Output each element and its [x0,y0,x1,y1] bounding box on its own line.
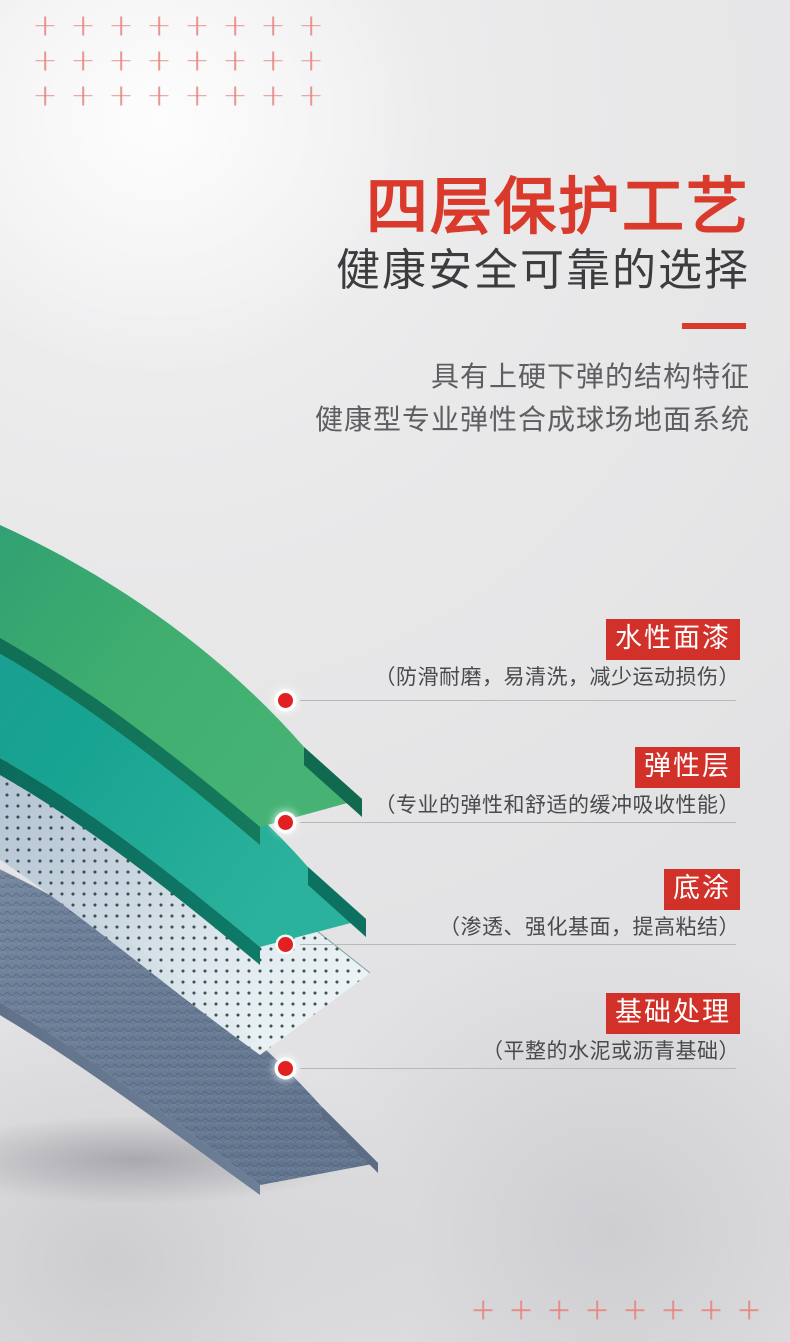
layer-badge-1: 水性面漆 [606,619,740,660]
description-line-2: 健康型专业弹性合成球场地面系统 [110,399,750,442]
callout-layer-3: 底涂 （渗透、强化基面，提高粘结） [320,869,740,938]
plus-cross-icon [502,1294,540,1326]
plus-cross-icon [254,78,292,113]
plus-cross-icon [254,43,292,78]
plus-cross-icon [140,43,178,78]
plus-cross-icon [292,78,330,113]
callout-layer-4: 基础处理 （平整的水泥或沥青基础） [320,993,740,1062]
plus-cross-icon [26,78,64,113]
plus-cross-icon [254,8,292,43]
plus-cross-icon [140,78,178,113]
plus-cross-icon [64,8,102,43]
badge-row-layer-4: 基础处理 [320,993,740,1034]
plus-cross-icon [102,8,140,43]
description-line-1: 具有上硬下弹的结构特征 [110,356,750,399]
plus-cross-icon [102,78,140,113]
plus-cross-icon [692,1294,730,1326]
layer-stack-illustration [0,495,420,1175]
layer-note-4: （平整的水泥或沥青基础） [320,1041,740,1062]
heading-block: 四层保护工艺 健康安全可靠的选择 具有上硬下弹的结构特征 健康型专业弹性合成球场… [110,176,750,441]
plus-cross-icon [292,43,330,78]
layer-badge-2: 弹性层 [635,747,740,788]
plus-cross-icon [178,78,216,113]
plus-cross-icon [654,1294,692,1326]
poster-root: 四层保护工艺 健康安全可靠的选择 具有上硬下弹的结构特征 健康型专业弹性合成球场… [0,0,790,1342]
plus-cross-icon [64,43,102,78]
plus-cross-icon [178,8,216,43]
plus-cross-icon [26,43,64,78]
plus-cross-icon [216,78,254,113]
plus-cross-icon [464,1294,502,1326]
plus-cross-icon [578,1294,616,1326]
page-subtitle: 健康安全可靠的选择 [110,246,750,297]
decor-cross-grid-topleft [26,8,330,113]
plus-cross-icon [102,43,140,78]
badge-row-layer-3: 底涂 [320,869,740,910]
page-title: 四层保护工艺 [110,176,750,240]
layer-note-3: （渗透、强化基面，提高粘结） [320,917,740,938]
plus-cross-icon [616,1294,654,1326]
plus-cross-icon [216,43,254,78]
plus-cross-icon [540,1294,578,1326]
plus-cross-icon [178,43,216,78]
callout-layer-2: 弹性层 （专业的弹性和舒适的缓冲吸收性能） [320,747,740,816]
plus-cross-icon [26,8,64,43]
decor-cross-grid-bottomright [464,1294,768,1326]
plus-cross-icon [216,8,254,43]
plus-cross-icon [140,8,178,43]
plus-cross-icon [730,1294,768,1326]
layer-note-2: （专业的弹性和舒适的缓冲吸收性能） [320,795,740,816]
callout-layer-1: 水性面漆 （防滑耐磨，易清洗，减少运动损伤） [320,619,740,688]
accent-rule [682,323,746,329]
badge-row-layer-1: 水性面漆 [320,619,740,660]
plus-cross-icon [64,78,102,113]
layer-badge-4: 基础处理 [606,993,740,1034]
plus-cross-icon [292,8,330,43]
layer-badge-3: 底涂 [664,869,740,910]
layer-note-1: （防滑耐磨，易清洗，减少运动损伤） [320,667,740,688]
description-block: 具有上硬下弹的结构特征 健康型专业弹性合成球场地面系统 [110,356,750,441]
badge-row-layer-2: 弹性层 [320,747,740,788]
